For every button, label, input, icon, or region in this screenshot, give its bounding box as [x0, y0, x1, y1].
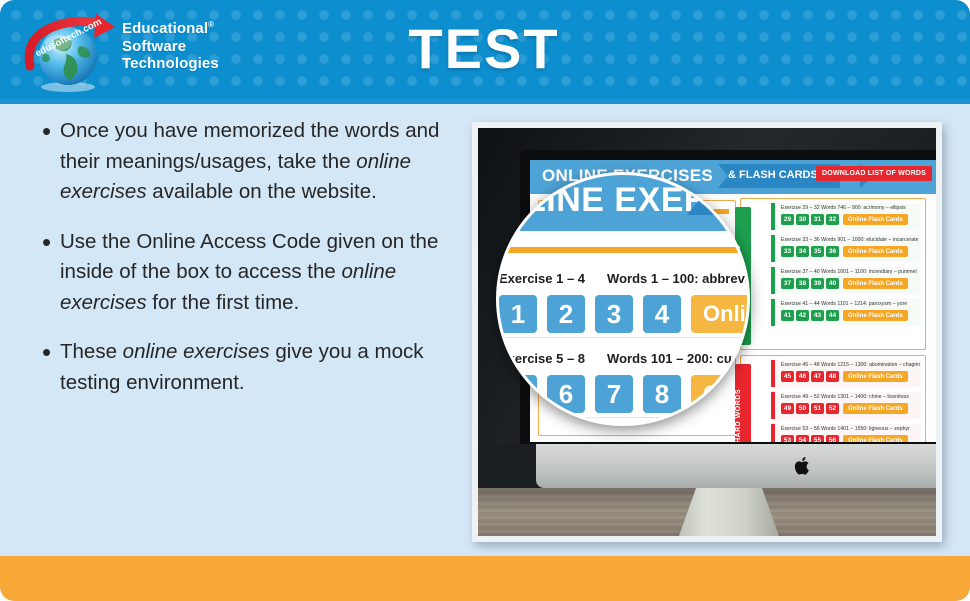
- online-flash-cards-button[interactable]: Online Flash Cards: [843, 214, 908, 225]
- exercise-range-label: Exercise 1 – 4: [499, 271, 585, 286]
- list-item: • Once you have memorized the words and …: [30, 116, 455, 208]
- exercise-number-button[interactable]: 30: [796, 214, 809, 225]
- exercise-number-button[interactable]: 43: [811, 310, 824, 321]
- exercise-number-button[interactable]: 4: [643, 295, 681, 333]
- exercise-number-button[interactable]: 34: [796, 246, 809, 257]
- magnifier-lens: ONLINE EXERCISES & FLASH CARDS DOWNLOAD …: [496, 172, 750, 426]
- exercise-buttons: 37 38 39 40 Online Flash Cards: [781, 278, 919, 289]
- bullet-text: These online exercises give you a mock t…: [60, 337, 455, 398]
- table-row: Exercise 49 – 52 Words 1301 – 1400: chin…: [771, 392, 921, 419]
- exercise-number-button[interactable]: 40: [826, 278, 839, 289]
- desk-surface: [478, 488, 936, 536]
- bullet-part: These: [60, 340, 123, 363]
- list-item: • These online exercises give you a mock…: [30, 337, 455, 398]
- magnified-exercise-block: Exercise 5 – 8 Words 101 – 200: curtail …: [499, 351, 750, 413]
- monitor-chin: [478, 444, 936, 488]
- exercise-range-label: Exercise 5 – 8: [499, 351, 585, 366]
- bullet-text: Use the Online Access Code given on the …: [60, 227, 455, 319]
- exercise-number-button[interactable]: 49: [781, 403, 794, 414]
- word-groups-column: MEDIUM WORDS Exercise 29 – 32 Words 746 …: [740, 198, 926, 438]
- online-flash-cards-button[interactable]: Online Flash Cards: [843, 403, 908, 414]
- exercise-number-button[interactable]: 53: [781, 435, 794, 442]
- exercise-buttons: 53 54 55 56 Online Flash Cards: [781, 435, 919, 442]
- exercise-number-button[interactable]: 31: [811, 214, 824, 225]
- magnified-exercise-block: Exercise 1 – 4 Words 1 – 100: abbreviate…: [499, 271, 750, 333]
- exercise-number-button[interactable]: 51: [811, 403, 824, 414]
- magnified-exercise-caption: Exercise 5 – 8 Words 101 – 200: curtail …: [499, 351, 750, 366]
- exercise-buttons: 29 30 31 32 Online Flash Cards: [781, 214, 919, 225]
- online-flash-cards-button[interactable]: Online Flash: [691, 295, 750, 333]
- magnified-website-view: ONLINE EXERCISES & FLASH CARDS DOWNLOAD …: [496, 172, 750, 426]
- apple-logo-icon: [794, 455, 812, 477]
- bullet-list: • Once you have memorized the words and …: [30, 116, 455, 417]
- exercise-number-button[interactable]: 36: [826, 246, 839, 257]
- words-range-label: Words 101 – 200: curtail – friv: [607, 351, 750, 366]
- bullet-part-italic: online exercises: [123, 340, 270, 363]
- bullet-marker: •: [30, 337, 60, 367]
- exercise-number-button[interactable]: 50: [796, 403, 809, 414]
- exercise-buttons: 33 34 35 36 Online Flash Cards: [781, 246, 919, 257]
- header-bottom-strip: [0, 98, 970, 104]
- exercise-number-button[interactable]: 37: [781, 278, 794, 289]
- exercise-number-button[interactable]: 52: [826, 403, 839, 414]
- online-flash-cards-button[interactable]: Online Flash Cards: [843, 371, 908, 382]
- exercise-buttons: 41 42 43 44 Online Flash Cards: [781, 310, 919, 321]
- exercise-number-button[interactable]: 1: [499, 295, 537, 333]
- exercise-caption: Exercise 53 – 56 Words 1401 – 1550: lign…: [781, 426, 919, 433]
- exercise-number-button[interactable]: 46: [796, 371, 809, 382]
- online-flash-cards-button[interactable]: Online Flash Cards: [843, 246, 908, 257]
- exercise-number-button[interactable]: 3: [595, 295, 633, 333]
- exercise-number-button[interactable]: 42: [796, 310, 809, 321]
- words-range-label: Words 1 – 100: abbreviate – culm: [607, 271, 750, 286]
- exercise-number-button[interactable]: 35: [811, 246, 824, 257]
- exercise-number-button[interactable]: 47: [811, 371, 824, 382]
- slide-header: edusoftech.com Educational® Software Tec…: [0, 0, 970, 98]
- table-row: Exercise 33 – 36 Words 901 – 1000: eluci…: [771, 235, 921, 262]
- bullet-marker: •: [30, 227, 60, 257]
- download-list-of-words-button[interactable]: DOWNLOAD LIST OF WORDS: [816, 166, 932, 181]
- magnified-exercise-caption: Exercise 1 – 4 Words 1 – 100: abbreviate…: [499, 271, 750, 286]
- exercise-caption: Exercise 45 – 48 Words 1215 – 1300: abom…: [781, 362, 919, 369]
- exercise-buttons: 45 46 47 48 Online Flash Cards: [781, 371, 919, 382]
- exercise-number-button[interactable]: 54: [796, 435, 809, 442]
- online-flash-cards-button[interactable]: Online Flash: [691, 375, 750, 413]
- exercise-caption: Exercise 33 – 36 Words 901 – 1000: eluci…: [781, 237, 919, 244]
- exercise-number-button[interactable]: 8: [643, 375, 681, 413]
- magnified-exercise-buttons: 1 2 3 4 Online Flash: [499, 295, 750, 333]
- exercise-number-button[interactable]: 38: [796, 278, 809, 289]
- exercise-number-button[interactable]: 32: [826, 214, 839, 225]
- magnified-orange-divider: [499, 247, 750, 253]
- exercise-number-button[interactable]: 29: [781, 214, 794, 225]
- exercise-number-button[interactable]: 55: [811, 435, 824, 442]
- table-row: Exercise 41 – 44 Words 1101 – 1214: paro…: [771, 299, 921, 326]
- hard-words-group: HARD WORDS Exercise 45 – 48 Words 1215 –…: [740, 355, 926, 442]
- exercise-number-button[interactable]: 44: [826, 310, 839, 321]
- imac-photo-frame: ONLINE EXERCISES & FLASH CARDS DOWNLOAD …: [472, 122, 942, 542]
- slide-footer: [0, 556, 970, 601]
- exercise-number-button[interactable]: 56: [826, 435, 839, 442]
- online-flash-cards-button[interactable]: Online Flash Cards: [843, 435, 908, 442]
- exercise-number-button[interactable]: 2: [547, 295, 585, 333]
- bullet-part: available on the website.: [147, 180, 377, 203]
- magnified-website-header: ONLINE EXERCISES & FLASH CARDS DOWNLOAD …: [496, 172, 750, 231]
- exercise-number-button[interactable]: 5: [499, 375, 537, 413]
- table-row: Exercise 45 – 48 Words 1215 – 1300: abom…: [771, 360, 921, 387]
- bullet-part: for the first time.: [147, 291, 300, 314]
- exercise-number-button[interactable]: 41: [781, 310, 794, 321]
- bullet-text: Once you have memorized the words and th…: [60, 116, 455, 208]
- exercise-caption: Exercise 49 – 52 Words 1301 – 1400: chin…: [781, 394, 919, 401]
- page-title: TEST: [0, 16, 969, 82]
- bullet-marker: •: [30, 116, 60, 146]
- exercise-caption: Exercise 41 – 44 Words 1101 – 1214: paro…: [781, 301, 919, 308]
- exercise-number-button[interactable]: 39: [811, 278, 824, 289]
- table-row: Exercise 29 – 32 Words 746 – 900: acrimo…: [771, 203, 921, 230]
- exercise-number-button[interactable]: 48: [826, 371, 839, 382]
- magnified-row-separator: [499, 417, 750, 418]
- magnified-row-separator: [499, 337, 750, 338]
- exercise-number-button[interactable]: 6: [547, 375, 585, 413]
- exercise-number-button[interactable]: 33: [781, 246, 794, 257]
- exercise-caption: Exercise 37 – 40 Words 1001 – 1100: ince…: [781, 269, 919, 276]
- imac-photo: ONLINE EXERCISES & FLASH CARDS DOWNLOAD …: [478, 128, 936, 536]
- exercise-buttons: 49 50 51 52 Online Flash Cards: [781, 403, 919, 414]
- slide: edusoftech.com Educational® Software Tec…: [0, 0, 970, 601]
- medium-words-group: MEDIUM WORDS Exercise 29 – 32 Words 746 …: [740, 198, 926, 350]
- exercise-number-button[interactable]: 7: [595, 375, 633, 413]
- online-flash-cards-button[interactable]: Online Flash Cards: [843, 278, 908, 289]
- monitor-chin-bar: [536, 444, 936, 488]
- table-row: Exercise 53 – 56 Words 1401 – 1550: lign…: [771, 424, 921, 442]
- list-item: • Use the Online Access Code given on th…: [30, 227, 455, 319]
- magnified-exercise-buttons: 5 6 7 8 Online Flash: [499, 375, 750, 413]
- exercise-caption: Exercise 29 – 32 Words 746 – 900: acrimo…: [781, 205, 919, 212]
- exercise-number-button[interactable]: 45: [781, 371, 794, 382]
- table-row: Exercise 37 – 40 Words 1001 – 1100: ince…: [771, 267, 921, 294]
- online-flash-cards-button[interactable]: Online Flash Cards: [843, 310, 908, 321]
